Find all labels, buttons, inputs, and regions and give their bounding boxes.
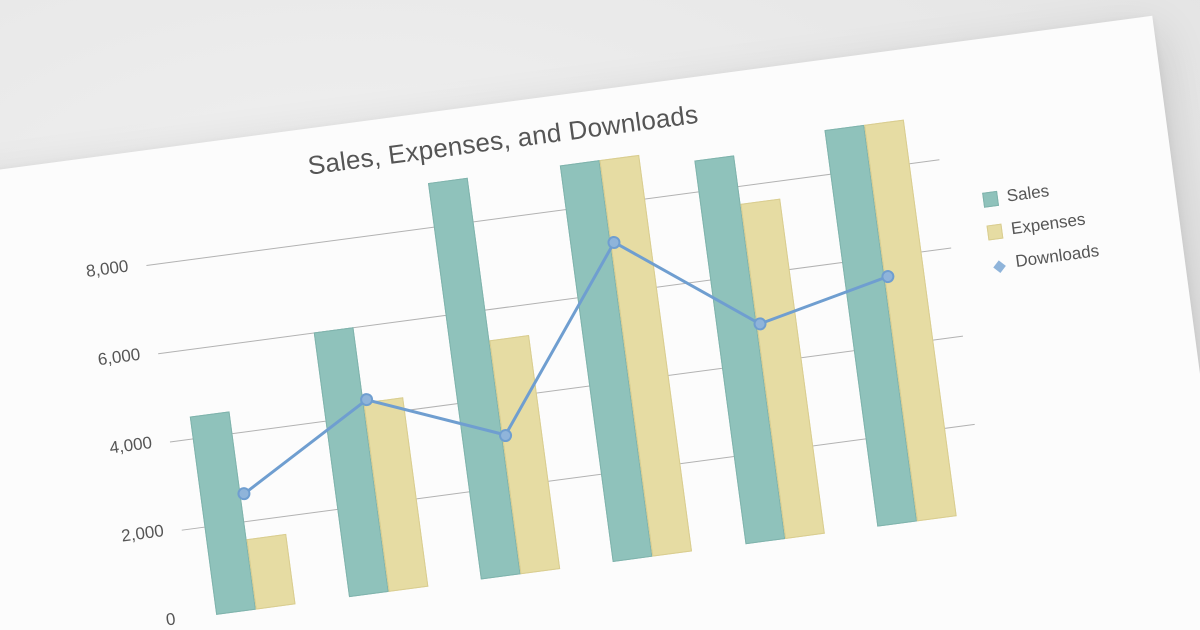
y-axis-tick-label: 6,000 — [28, 345, 142, 380]
downloads-line-layer — [0, 16, 1152, 180]
legend-item-downloads[interactable]: Downloads — [990, 233, 1161, 275]
bar-sales-us[interactable] — [190, 411, 256, 615]
square-teal-icon — [982, 190, 999, 207]
x-axis-layer: USGermanyUKJapanItalyGreece — [0, 16, 1152, 180]
bar-expenses-us[interactable] — [247, 534, 296, 610]
y-axis-tick-label: 2,000 — [51, 521, 165, 556]
legend-label: Expenses — [1010, 210, 1087, 240]
chart-plot-area: Sales, Expenses, and Downloads 02,0004,0… — [0, 16, 1200, 630]
bar-series-layer — [0, 16, 1152, 180]
legend-label: Sales — [1006, 181, 1051, 206]
gridline — [158, 248, 951, 355]
legend-label: Downloads — [1014, 241, 1100, 272]
screenshot-stage: Sales, Expenses, and Downloads 02,0004,0… — [0, 0, 1200, 630]
gridline — [170, 336, 963, 443]
chart-card-wrapper: Sales, Expenses, and Downloads 02,0004,0… — [0, 16, 1200, 630]
y-axis-tick-layer: 02,0004,0006,0008,000 — [0, 16, 1152, 180]
chart-card: Sales, Expenses, and Downloads 02,0004,0… — [0, 16, 1200, 630]
y-axis-tick-label: 0 — [63, 609, 177, 630]
y-axis-tick-label: 8,000 — [16, 257, 130, 292]
diamond-blue-icon — [991, 256, 1008, 273]
secondary-y-axis-layer: 15,00010,000 — [0, 16, 1152, 180]
square-yellow-icon — [986, 223, 1003, 240]
gridline — [182, 424, 975, 531]
y-axis-tick-label: 4,000 — [40, 433, 154, 468]
gridline-layer — [0, 16, 1152, 180]
